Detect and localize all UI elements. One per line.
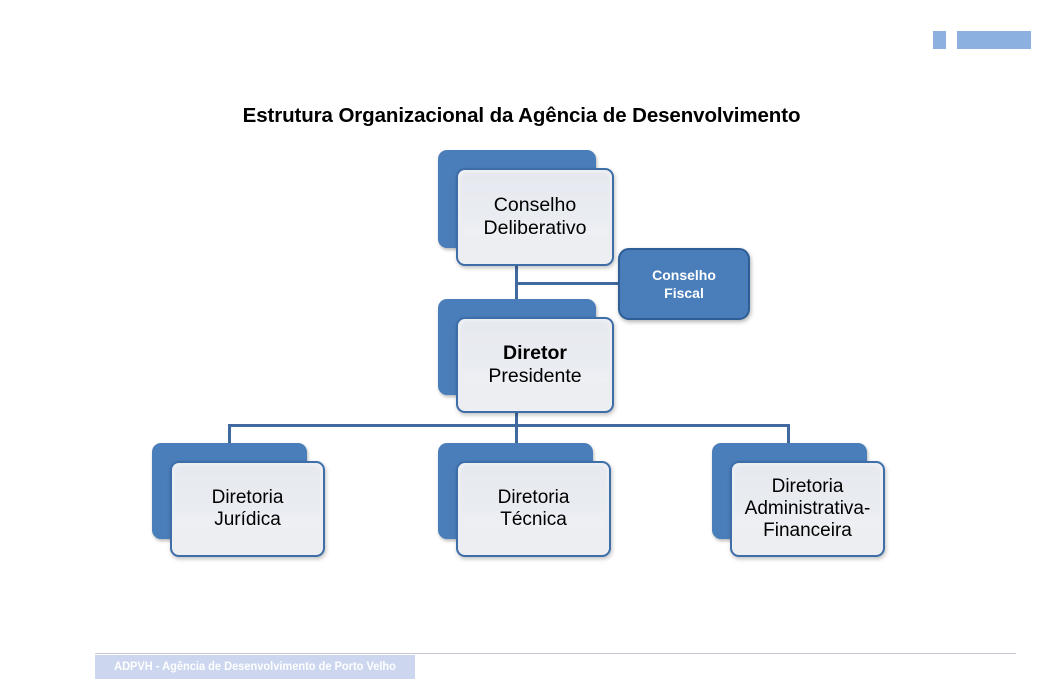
org-node-label: Diretor Presidente [456,317,614,413]
org-node-label: Diretoria Administrativa- Financeira [730,461,885,557]
org-node-label-line: Diretoria [772,476,844,498]
org-node-label: Diretoria Jurídica [170,461,325,557]
org-node-label-line: Conselho [652,266,716,284]
org-node-label: Conselho Deliberativo [456,168,614,266]
org-node-label-line: Conselho [494,194,576,217]
org-node-label: Diretoria Técnica [456,461,611,557]
org-node-diretoria-administrativa-financeira[interactable]: Diretoria Administrativa- Financeira [712,443,867,539]
org-node-label-line: Jurídica [214,509,281,531]
org-node-label-line: Financeira [763,520,852,542]
connector-presidente-bus [228,424,790,427]
org-chart: Conselho Deliberativo Conselho Fiscal Di… [0,0,1043,694]
org-node-diretoria-juridica[interactable]: Diretoria Jurídica [152,443,307,539]
org-node-diretor-presidente[interactable]: Diretor Presidente [438,299,596,395]
org-node-conselho-fiscal[interactable]: Conselho Fiscal [618,248,750,320]
org-node-label-line: Diretor [503,342,567,365]
connector-deliberativo-fiscal [515,282,620,285]
org-node-label-line: Técnica [500,509,567,531]
org-node-label-line: Presidente [488,365,581,388]
org-node-label: Conselho Fiscal [618,248,750,320]
org-node-conselho-deliberativo[interactable]: Conselho Deliberativo [438,150,596,248]
footer-divider [95,653,1016,654]
org-node-label-line: Administrativa- [745,498,871,520]
org-node-label-line: Fiscal [664,284,704,302]
footer-text: ADPVH - Agência de Desenvolvimento de Po… [101,655,408,679]
org-node-label-line: Diretoria [498,487,570,509]
org-node-label-line: Diretoria [212,487,284,509]
org-node-label-line: Deliberativo [484,217,587,240]
org-node-diretoria-tecnica[interactable]: Diretoria Técnica [438,443,593,539]
